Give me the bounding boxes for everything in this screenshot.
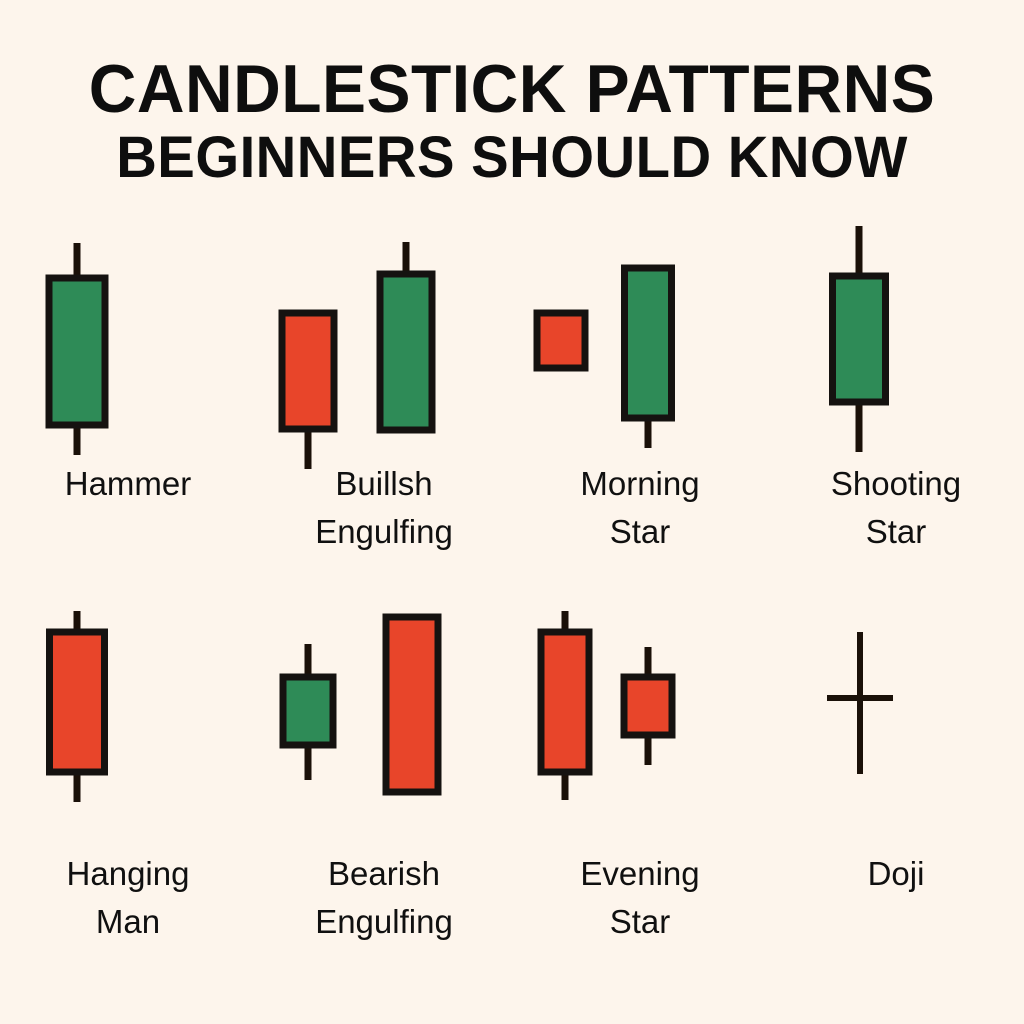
candle-body: [833, 276, 886, 402]
candle-bearish: [386, 617, 438, 792]
candle-bullish: [283, 644, 333, 780]
pattern-cell-shooting-star[interactable]: Shooting Star: [768, 212, 1024, 602]
pattern-label: Shooting Star: [768, 460, 1024, 556]
candle-body: [541, 632, 589, 772]
pattern-cell-morning-star[interactable]: Morning Star: [512, 212, 768, 602]
candle-body: [624, 677, 672, 735]
poster-root: CANDLESTICK PATTERNS BEGINNERS SHOULD KN…: [0, 0, 1024, 1024]
page-subtitle: BEGINNERS SHOULD KNOW: [15, 126, 1008, 190]
pattern-grid: HammerBuillsh EngulfingMorning StarShoot…: [0, 212, 1024, 992]
candle-bearish: [282, 313, 334, 469]
candlestick-svg: [256, 602, 512, 852]
candlestick-figure: [512, 602, 768, 852]
candlestick-figure: [768, 212, 1024, 462]
candlestick-svg: [0, 602, 256, 852]
candle-bearish: [541, 611, 589, 800]
candlestick-figure: [512, 212, 768, 462]
candle-body: [625, 268, 672, 418]
candle-body: [537, 313, 585, 368]
candle-bearish: [537, 313, 585, 368]
pattern-label: Bearish Engulfing: [256, 850, 512, 946]
candle-body: [49, 278, 105, 425]
candlestick-figure: [768, 602, 1024, 852]
pattern-label: Hammer: [0, 460, 256, 508]
candle-bearish: [624, 647, 672, 765]
candle-body: [380, 274, 432, 430]
pattern-label: Evening Star: [512, 850, 768, 946]
pattern-label: Doji: [768, 850, 1024, 898]
candle-bullish: [49, 243, 105, 455]
candle-doji: [827, 632, 893, 774]
candle-body: [50, 632, 105, 772]
candlestick-figure: [256, 212, 512, 462]
candle-bullish: [380, 242, 432, 430]
pattern-cell-bullish-engulfing[interactable]: Buillsh Engulfing: [256, 212, 512, 602]
title-block: CANDLESTICK PATTERNS BEGINNERS SHOULD KN…: [0, 52, 1024, 190]
page-title: CANDLESTICK PATTERNS: [15, 52, 1008, 126]
candlestick-figure: [0, 212, 256, 462]
candlestick-svg: [512, 212, 768, 462]
candlestick-svg: [768, 602, 1024, 852]
pattern-label: Morning Star: [512, 460, 768, 556]
candle-body: [386, 617, 438, 792]
pattern-cell-doji[interactable]: Doji: [768, 602, 1024, 992]
pattern-cell-hanging-man[interactable]: Hanging Man: [0, 602, 256, 992]
candle-body: [282, 313, 334, 429]
pattern-cell-evening-star[interactable]: Evening Star: [512, 602, 768, 992]
pattern-label: Hanging Man: [0, 850, 256, 946]
candle-bullish: [833, 226, 886, 452]
candlestick-svg: [768, 212, 1024, 462]
candlestick-figure: [256, 602, 512, 852]
pattern-label: Buillsh Engulfing: [256, 460, 512, 556]
candle-bullish: [625, 268, 672, 448]
candlestick-svg: [256, 212, 512, 462]
candlestick-svg: [512, 602, 768, 852]
candlestick-figure: [0, 602, 256, 852]
pattern-cell-bearish-engulfing[interactable]: Bearish Engulfing: [256, 602, 512, 992]
pattern-cell-hammer[interactable]: Hammer: [0, 212, 256, 602]
candlestick-svg: [0, 212, 256, 462]
candle-body: [283, 677, 333, 745]
candle-bearish: [50, 611, 105, 802]
